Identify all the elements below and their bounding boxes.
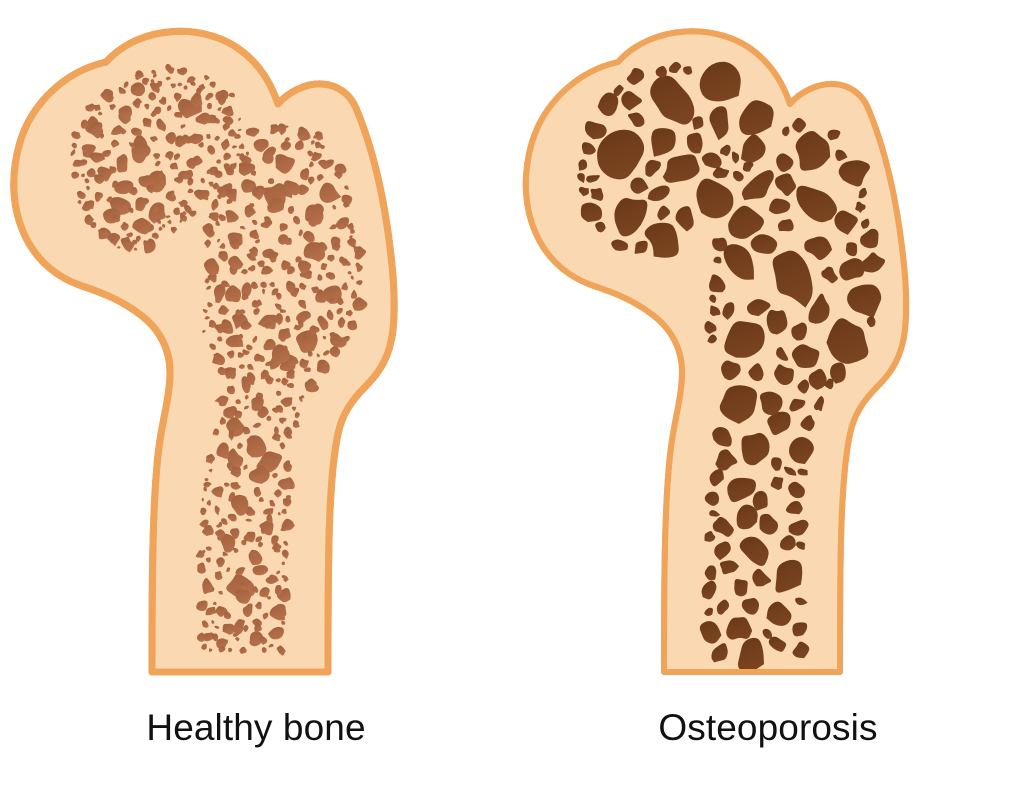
trabecular-pore [207,103,212,109]
healthy-bone-illustration [0,0,512,700]
trabecular-pore [347,320,357,330]
trabecular-pore [268,178,274,184]
trabecular-pore [217,194,221,199]
caption-osteoporosis: Osteoporosis [512,706,1024,750]
trabecular-pore [206,134,210,139]
caption-healthy-bone: Healthy bone [0,706,512,750]
trabecular-pore [734,579,747,596]
osteoporosis-bone-illustration [512,0,1024,700]
bone-comparison-figure: Healthy bone Osteoporosis [0,0,1024,800]
panel-healthy-bone: Healthy bone [0,0,512,800]
trabecular-pore [143,118,151,127]
trabecular-pore [252,300,260,308]
panel-osteoporosis: Osteoporosis [512,0,1024,800]
trabecular-pore [275,585,282,595]
